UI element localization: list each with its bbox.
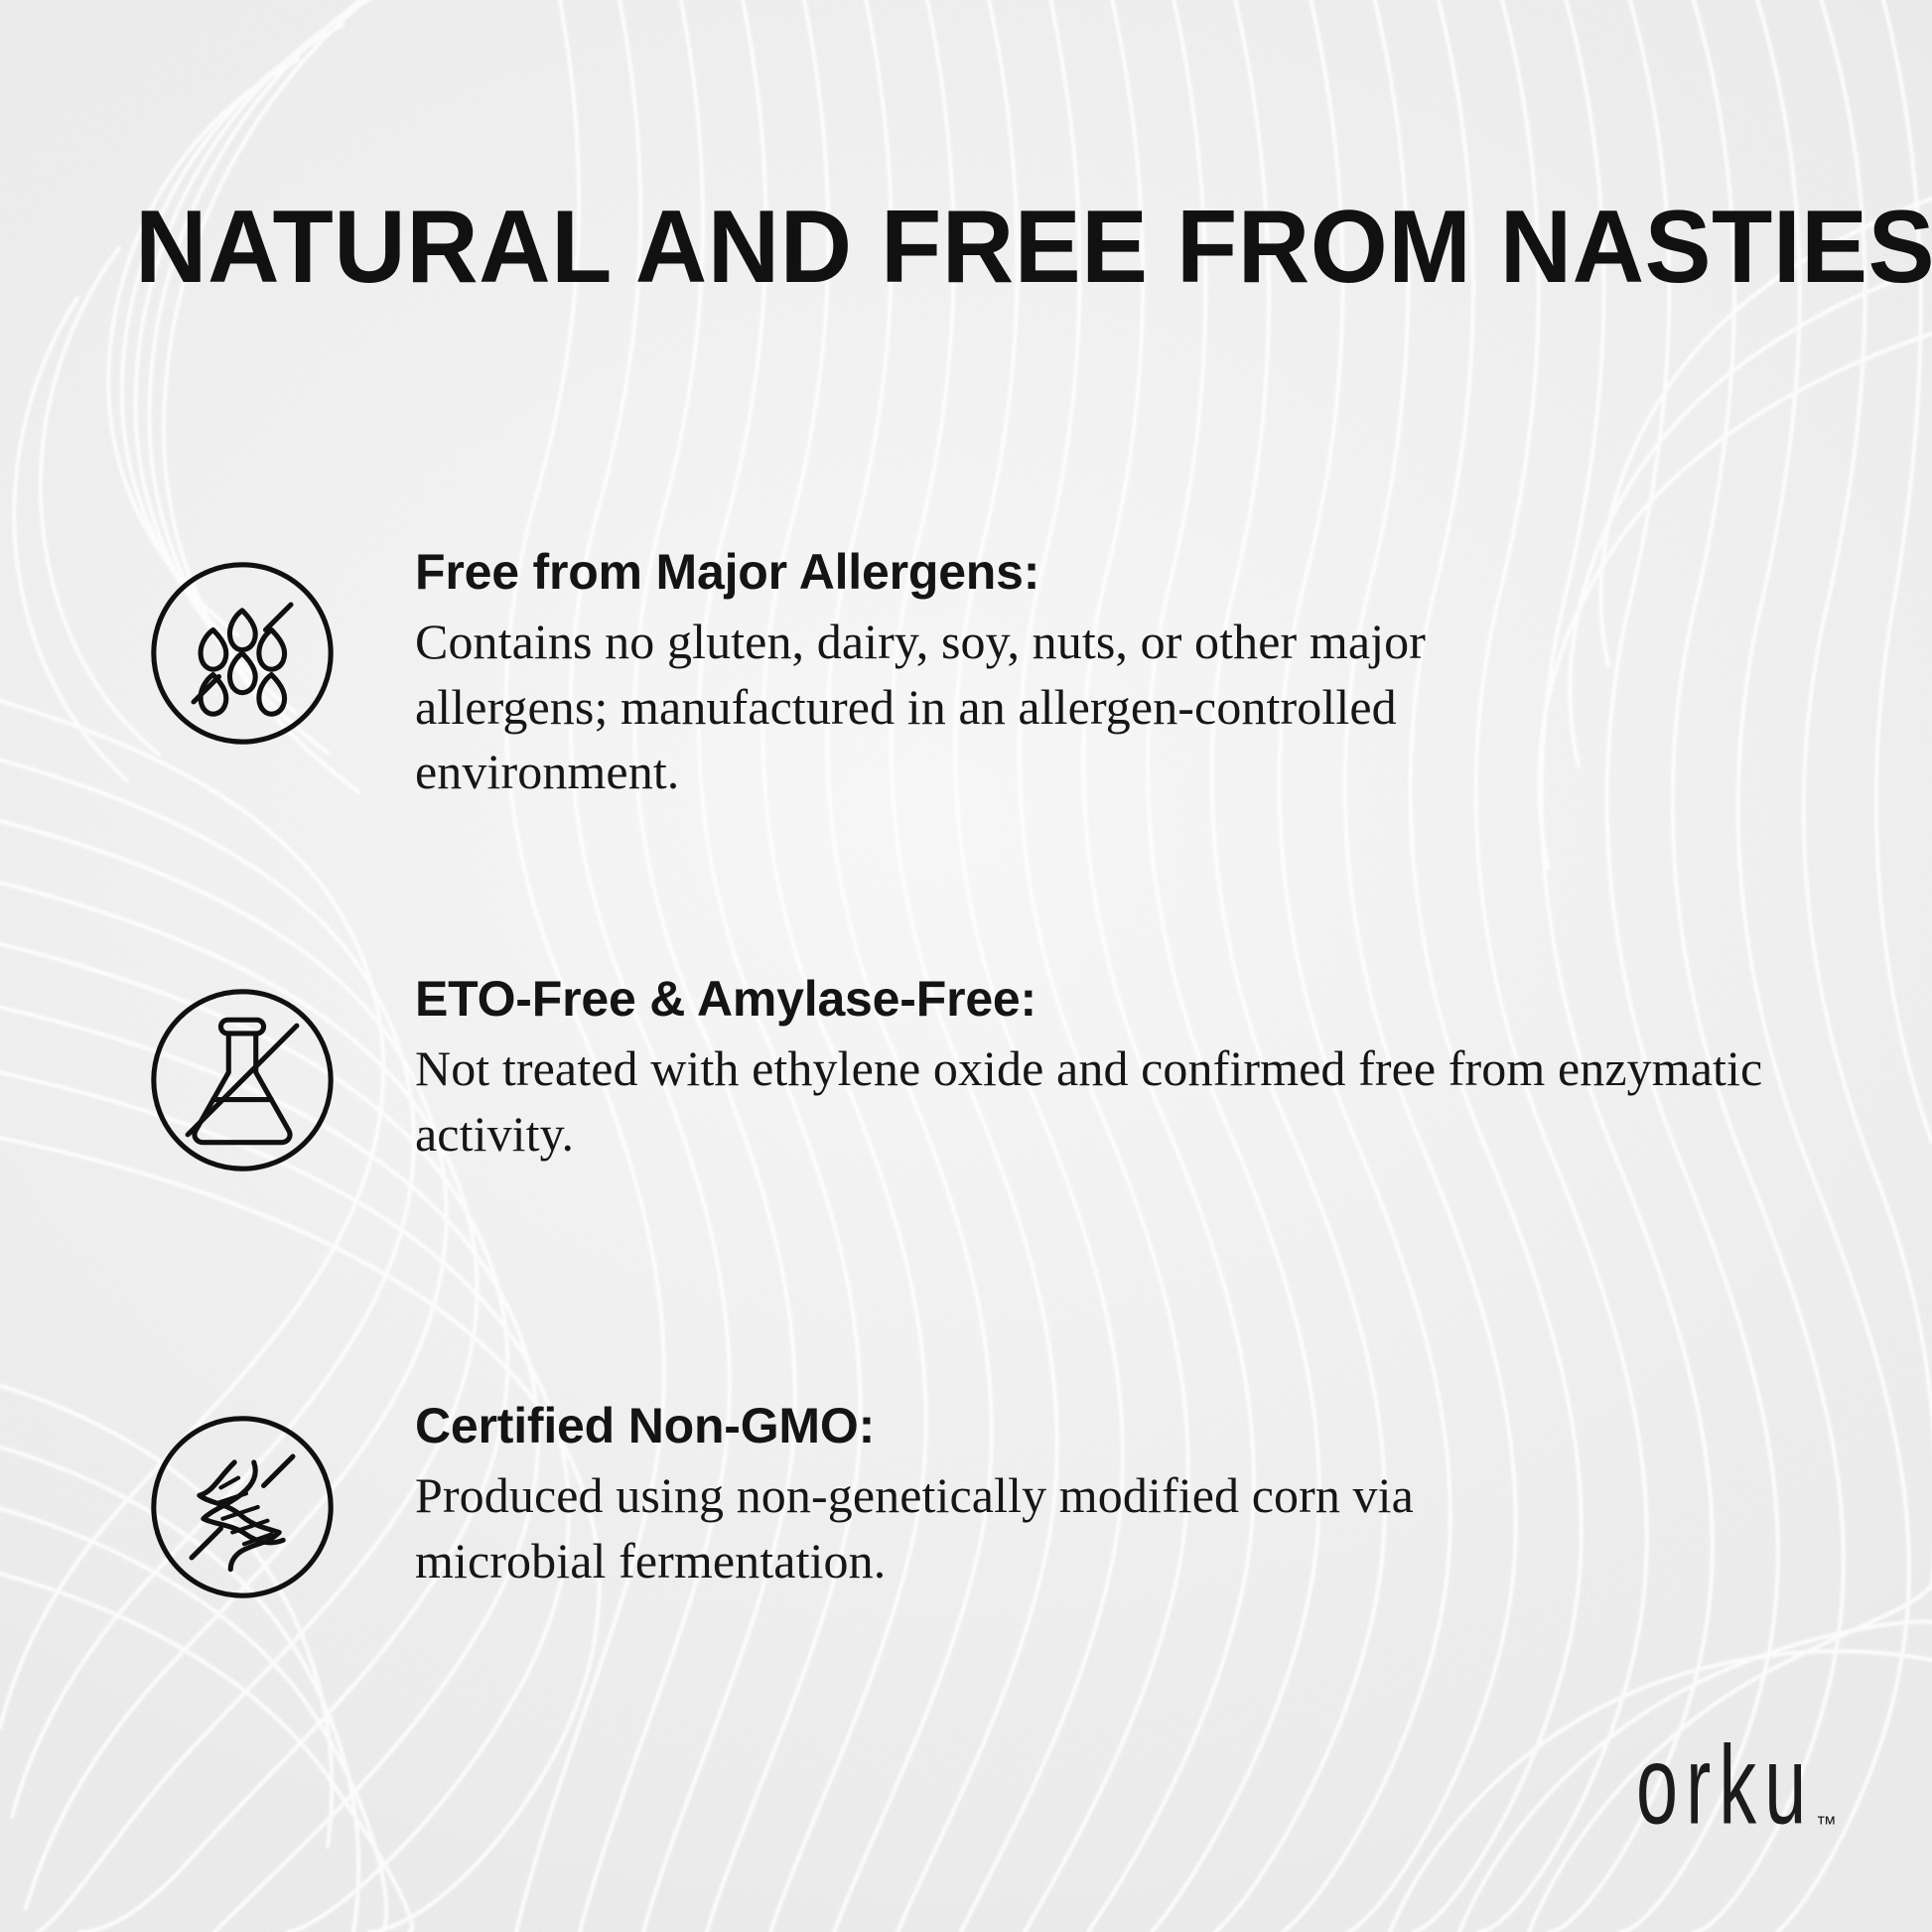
no-dna-gmo-icon xyxy=(145,1410,340,1604)
brand-logo: orku ™ xyxy=(1574,1739,1837,1841)
trademark-symbol: ™ xyxy=(1816,1814,1837,1835)
feature-item-non-gmo: Certified Non-GMO: Produced using non-ge… xyxy=(145,1398,1833,1696)
brand-wordmark: orku xyxy=(1636,1729,1814,1841)
no-chemical-flask-icon xyxy=(145,983,340,1177)
feature-text-eto-amylase: ETO-Free & Amylase-Free: Not treated wit… xyxy=(415,971,1805,1167)
feature-heading: ETO-Free & Amylase-Free: xyxy=(415,971,1805,1027)
feature-text-allergens: Free from Major Allergens: Contains no g… xyxy=(415,544,1805,805)
poster-content: NATURAL AND FREE FROM NASTIES! xyxy=(0,0,1932,1932)
feature-body: Not treated with ethylene oxide and conf… xyxy=(415,1036,1765,1167)
feature-heading: Certified Non-GMO: xyxy=(415,1398,1805,1453)
feature-body: Produced using non-genetically modified … xyxy=(415,1463,1567,1593)
page-title: NATURAL AND FREE FROM NASTIES! xyxy=(135,195,1744,300)
feature-heading: Free from Major Allergens: xyxy=(415,544,1805,600)
feature-text-non-gmo: Certified Non-GMO: Produced using non-ge… xyxy=(415,1398,1805,1593)
feature-list: Free from Major Allergens: Contains no g… xyxy=(145,544,1833,1696)
feature-item-eto-amylase: ETO-Free & Amylase-Free: Not treated wit… xyxy=(145,971,1833,1398)
poster-canvas: NATURAL AND FREE FROM NASTIES! xyxy=(0,0,1932,1932)
feature-body: Contains no gluten, dairy, soy, nuts, or… xyxy=(415,610,1621,805)
feature-item-allergens: Free from Major Allergens: Contains no g… xyxy=(145,544,1833,971)
no-grain-allergen-icon xyxy=(145,556,340,751)
